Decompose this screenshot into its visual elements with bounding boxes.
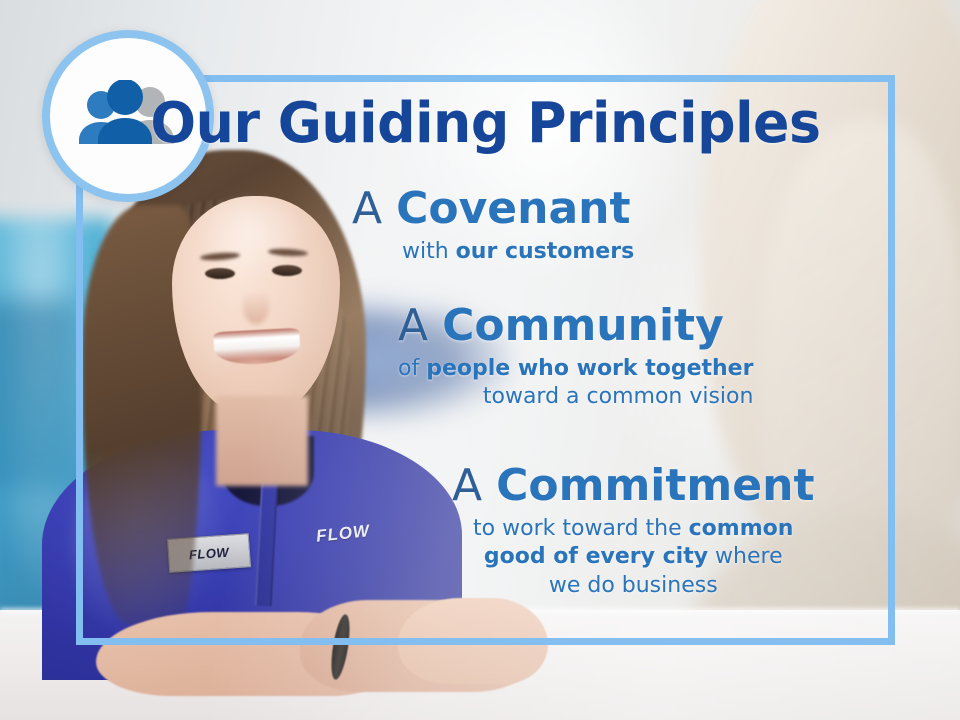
- principle-covenant: A Covenant with our customers: [352, 186, 634, 266]
- principle-covenant-sub-bold: our customers: [456, 239, 635, 264]
- principle-commitment-article: A: [452, 460, 496, 511]
- principle-covenant-sub-regular: with: [402, 239, 456, 264]
- page-title: Our Guiding Principles: [92, 96, 878, 152]
- principle-covenant-heading: A Covenant: [352, 186, 634, 233]
- principle-community-sub-regular-2: toward a common vision: [483, 384, 754, 409]
- principle-commitment-heading: A Commitment: [452, 463, 814, 510]
- principle-covenant-subtext: with our customers: [352, 238, 634, 267]
- principle-covenant-article: A: [352, 183, 396, 234]
- principle-commitment-sub-bold-1: common: [689, 516, 794, 541]
- principle-community-sub-regular-1: of: [398, 356, 426, 381]
- principle-commitment: A Commitment to work toward the common g…: [452, 463, 814, 600]
- principle-community-subtext: of people who work together toward a com…: [398, 355, 757, 412]
- principle-covenant-keyword: Covenant: [396, 183, 630, 234]
- principle-commitment-subtext: to work toward the common good of every …: [452, 515, 814, 601]
- principle-commitment-sub-regular-2: where: [708, 544, 783, 569]
- principle-community-article: A: [398, 300, 442, 351]
- principle-community-heading: A Community: [398, 303, 757, 350]
- principle-community-sub-bold-1: people who work together: [426, 356, 753, 381]
- principle-community-keyword: Community: [442, 300, 724, 351]
- text-content: Our Guiding Principles A Covenant with o…: [0, 0, 960, 720]
- principle-commitment-keyword: Commitment: [496, 460, 814, 511]
- principle-commitment-sub-regular-3: we do business: [549, 573, 718, 598]
- principle-commitment-sub-bold-2: good of every city: [484, 544, 708, 569]
- principle-commitment-sub-regular-1: to work toward the: [473, 516, 689, 541]
- principle-community: A Community of people who work together …: [398, 303, 757, 412]
